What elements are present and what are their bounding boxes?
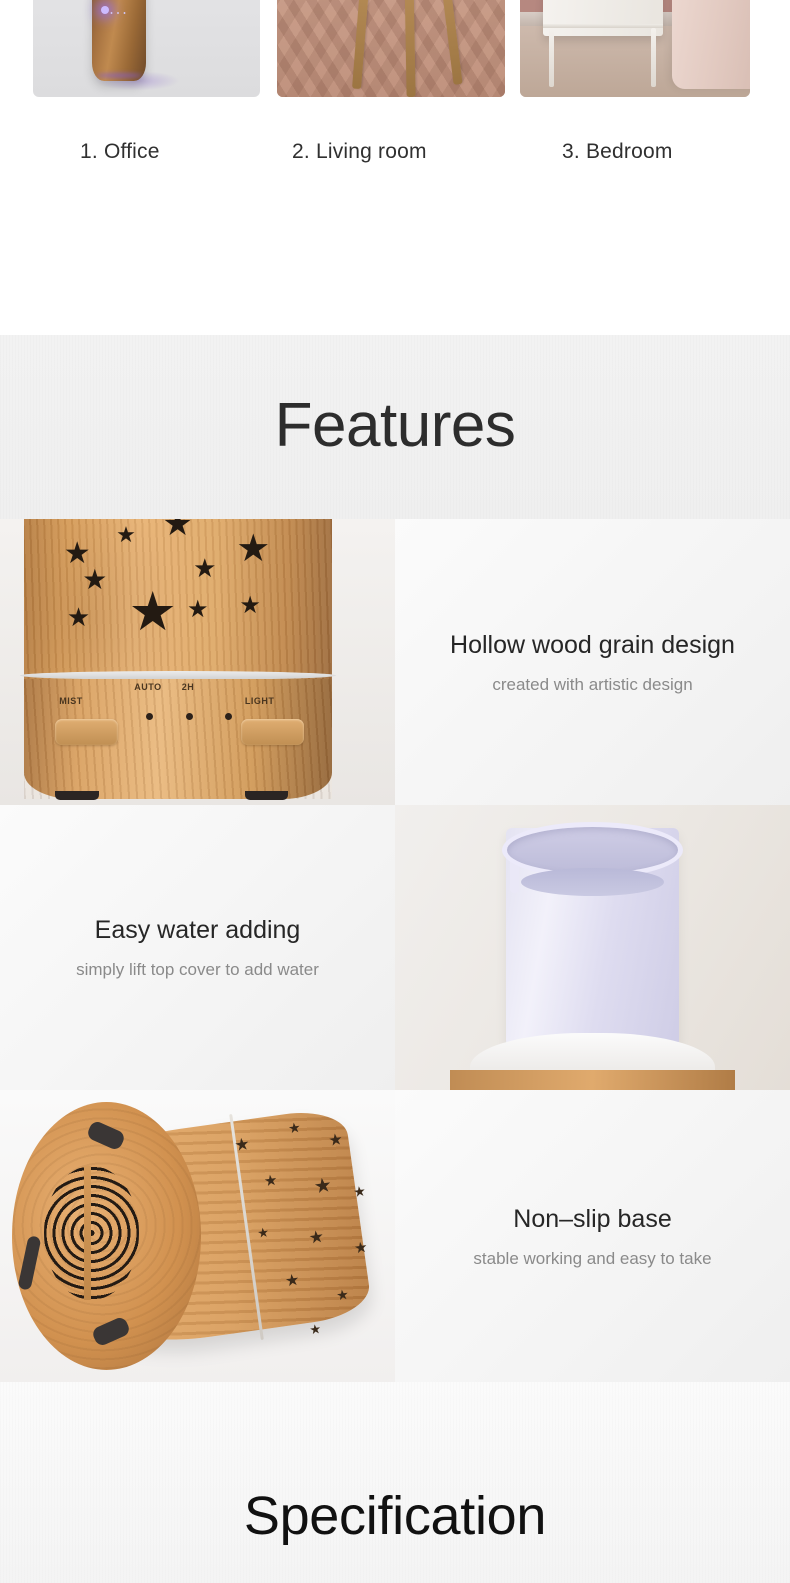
diffuser-bottom-face: [12, 1102, 202, 1371]
feature-text-non-slip-base: Non–slip base stable working and easy to…: [395, 1090, 790, 1382]
nightstand-leg: [651, 28, 656, 87]
feature-title: Hollow wood grain design: [450, 628, 735, 663]
feature-row-hollow-wood-grain: ★ ★ ★ ★ ★ ★ ★ ★ ★ ★ MIST AUTO 2H LIGHT: [0, 519, 790, 805]
office-desk-diffuser-photo: [33, 0, 260, 97]
rubber-foot: [245, 791, 288, 800]
feature-title: Easy water adding: [95, 913, 301, 948]
feature-row-easy-water-adding: Easy water adding simply lift top cover …: [0, 805, 790, 1090]
star-cutout-pattern-side: ★ ★ ★ ★ ★ ★ ★ ★ ★ ★ ★ ★: [196, 1097, 395, 1376]
nightstand-apron: [543, 24, 663, 28]
feature-subtitle: created with artistic design: [492, 674, 692, 697]
control-dots: [109, 11, 129, 15]
non-slip-pad: [18, 1235, 42, 1290]
scene-thumbnail-living-room[interactable]: [277, 0, 505, 97]
scene-thumbnail-office[interactable]: [33, 0, 260, 97]
rubber-foot: [55, 791, 98, 800]
air-intake-vent: [44, 1166, 139, 1300]
wood-grain-housing: [450, 1070, 734, 1090]
herringbone-floor: [277, 0, 505, 97]
diffuser-base-vent-photo: ★ ★ ★ ★ ★ ★ ★ ★ ★ ★ ★ ★: [0, 1090, 395, 1382]
mist-button-label: MIST: [59, 696, 83, 706]
star-cutout-pattern: ★ ★ ★ ★ ★ ★ ★ ★ ★ ★: [24, 519, 332, 679]
bedroom-nightstand-photo: [520, 0, 750, 97]
white-nightstand: [543, 0, 663, 36]
feature-subtitle: simply lift top cover to add water: [76, 959, 319, 982]
scene-thumbnail-bedroom[interactable]: [520, 0, 750, 97]
scene-thumbnail-strip: 1. Office 2. Living room 3. Bedroom: [0, 0, 790, 180]
auto-mode-label: AUTO: [134, 682, 161, 692]
light-button-label: LIGHT: [245, 696, 275, 706]
water-surface: [521, 868, 663, 896]
living-room-table-photo: [277, 0, 505, 97]
feature-title: Non–slip base: [513, 1202, 671, 1237]
bed-duvet: [672, 0, 750, 89]
mist-button[interactable]: [55, 719, 118, 745]
water-tank-open-photo: [395, 805, 790, 1090]
feature-row-non-slip-base: ★ ★ ★ ★ ★ ★ ★ ★ ★ ★ ★ ★ Non–slip base: [0, 1090, 790, 1382]
nightstand-leg: [549, 28, 554, 87]
specification-heading: Specification: [0, 1485, 790, 1547]
timer-2h-label: 2H: [182, 682, 195, 692]
specification-band: [0, 1382, 790, 1583]
scene-caption-office: 1. Office: [80, 140, 160, 164]
feature-text-easy-water-adding: Easy water adding simply lift top cover …: [0, 805, 395, 1090]
feature-grid: ★ ★ ★ ★ ★ ★ ★ ★ ★ ★ MIST AUTO 2H LIGHT: [0, 519, 790, 1382]
non-slip-pad: [85, 1119, 126, 1151]
features-heading: Features: [0, 390, 790, 461]
diffuser-star-cutout-photo: ★ ★ ★ ★ ★ ★ ★ ★ ★ ★ MIST AUTO 2H LIGHT: [0, 519, 395, 805]
feature-subtitle: stable working and easy to take: [473, 1248, 711, 1271]
scene-caption-bedroom: 3. Bedroom: [562, 140, 673, 164]
light-button[interactable]: [241, 719, 304, 745]
non-slip-pad: [91, 1315, 132, 1347]
feature-text-hollow-wood-grain: Hollow wood grain design created with ar…: [395, 519, 790, 805]
scene-caption-living-room: 2. Living room: [292, 140, 427, 164]
base-glow: [97, 73, 142, 78]
